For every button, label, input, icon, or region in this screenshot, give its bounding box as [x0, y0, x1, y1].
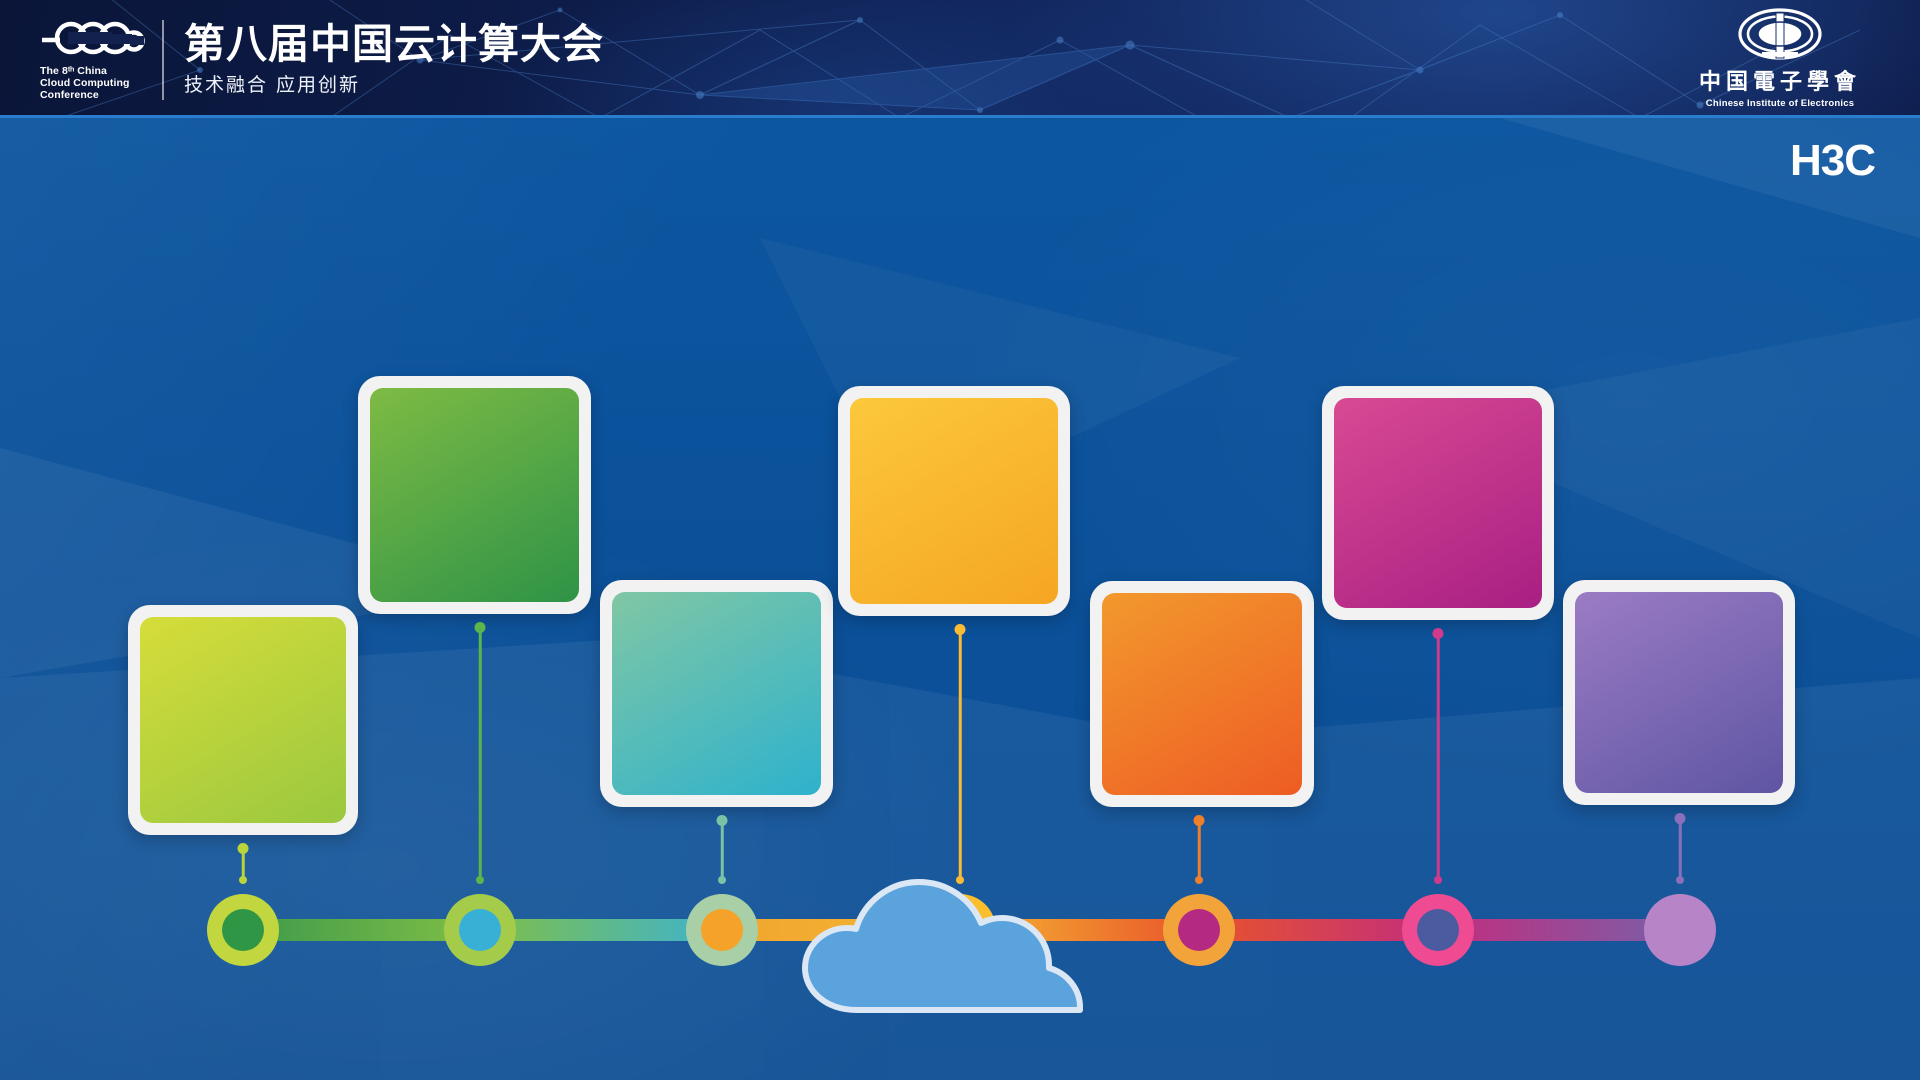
- card-purple[interactable]: [1563, 580, 1795, 805]
- header-divider: [162, 20, 164, 100]
- connector-dot-bottom: [1434, 876, 1442, 884]
- conference-header-bar: The 8ᵗʰ China Cloud Computing Conference…: [0, 0, 1920, 118]
- cloud-icon: [795, 860, 1090, 1020]
- connector-1: [235, 843, 251, 884]
- card-yellow-fill: [850, 398, 1058, 604]
- connector-6: [1430, 628, 1446, 884]
- connector-5: [1191, 815, 1207, 884]
- card-yellow[interactable]: [838, 386, 1070, 616]
- h3c-logo: H3C: [1790, 136, 1875, 186]
- connector-dot-top: [717, 815, 728, 826]
- connector-2: [472, 622, 488, 884]
- connector-dot-bottom: [1195, 876, 1203, 884]
- connector-line: [479, 627, 482, 880]
- connector-4: [952, 624, 968, 884]
- chinese-institute-of-electronics-logo: 中国電子學會 Chinese Institute of Electronics: [1695, 8, 1865, 110]
- page-subtitle: 技术融合 应用创新: [184, 71, 604, 99]
- card-magenta[interactable]: [1322, 386, 1554, 620]
- card-magenta-fill: [1334, 398, 1542, 608]
- cie-logo-en: Chinese Institute of Electronics: [1695, 98, 1865, 110]
- connector-dot-top: [1194, 815, 1205, 826]
- connector-dot-bottom: [476, 876, 484, 884]
- connector-dot-top: [238, 843, 249, 854]
- ccc-mark-icon: [38, 14, 146, 66]
- page-title: 第八届中国云计算大会: [184, 21, 604, 67]
- ccc-logo-line-3: Conference: [40, 90, 148, 102]
- connector-dot-top: [1433, 628, 1444, 639]
- ccc-logo-subtitle: The 8ᵗʰ China Cloud Computing Conference: [40, 66, 148, 101]
- card-orange[interactable]: [1090, 581, 1314, 807]
- node-3-core[interactable]: [701, 909, 743, 951]
- connector-line: [721, 820, 724, 880]
- card-lime-fill: [140, 617, 346, 823]
- connector-line: [1437, 633, 1440, 880]
- ccc-logo-icon: The 8ᵗʰ China Cloud Computing Conference: [38, 14, 146, 106]
- connector-line: [1198, 820, 1201, 880]
- connector-line: [1679, 818, 1682, 880]
- header-title-group: 第八届中国云计算大会 技术融合 应用创新: [184, 21, 604, 99]
- node-5-core[interactable]: [1178, 909, 1220, 951]
- card-green[interactable]: [358, 376, 591, 614]
- connector-dot-top: [955, 624, 966, 635]
- connector-line: [959, 629, 962, 880]
- connector-7: [1672, 813, 1688, 884]
- node-7-ring[interactable]: [1644, 894, 1716, 966]
- node-6-core[interactable]: [1417, 909, 1459, 951]
- connector-dot-bottom: [239, 876, 247, 884]
- connector-dot-top: [475, 622, 486, 633]
- connector-dot-top: [1675, 813, 1686, 824]
- card-purple-fill: [1575, 592, 1783, 793]
- card-teal[interactable]: [600, 580, 833, 807]
- connector-3: [714, 815, 730, 884]
- slide-canvas: The 8ᵗʰ China Cloud Computing Conference…: [0, 0, 1920, 1080]
- card-lime[interactable]: [128, 605, 358, 835]
- cie-emblem-icon: [1736, 8, 1824, 64]
- node-2-core[interactable]: [459, 909, 501, 951]
- connector-dot-bottom: [1676, 876, 1684, 884]
- card-orange-fill: [1102, 593, 1302, 795]
- ccc-logo-line-2: Cloud Computing: [40, 78, 148, 90]
- node-1-core[interactable]: [222, 909, 264, 951]
- card-teal-fill: [612, 592, 821, 795]
- card-green-fill: [370, 388, 579, 602]
- slide-body: H3C: [0, 118, 1920, 1080]
- header-left-group: The 8ᵗʰ China Cloud Computing Conference…: [38, 14, 604, 106]
- cie-logo-cn: 中国電子學會: [1695, 71, 1865, 95]
- connector-dot-bottom: [718, 876, 726, 884]
